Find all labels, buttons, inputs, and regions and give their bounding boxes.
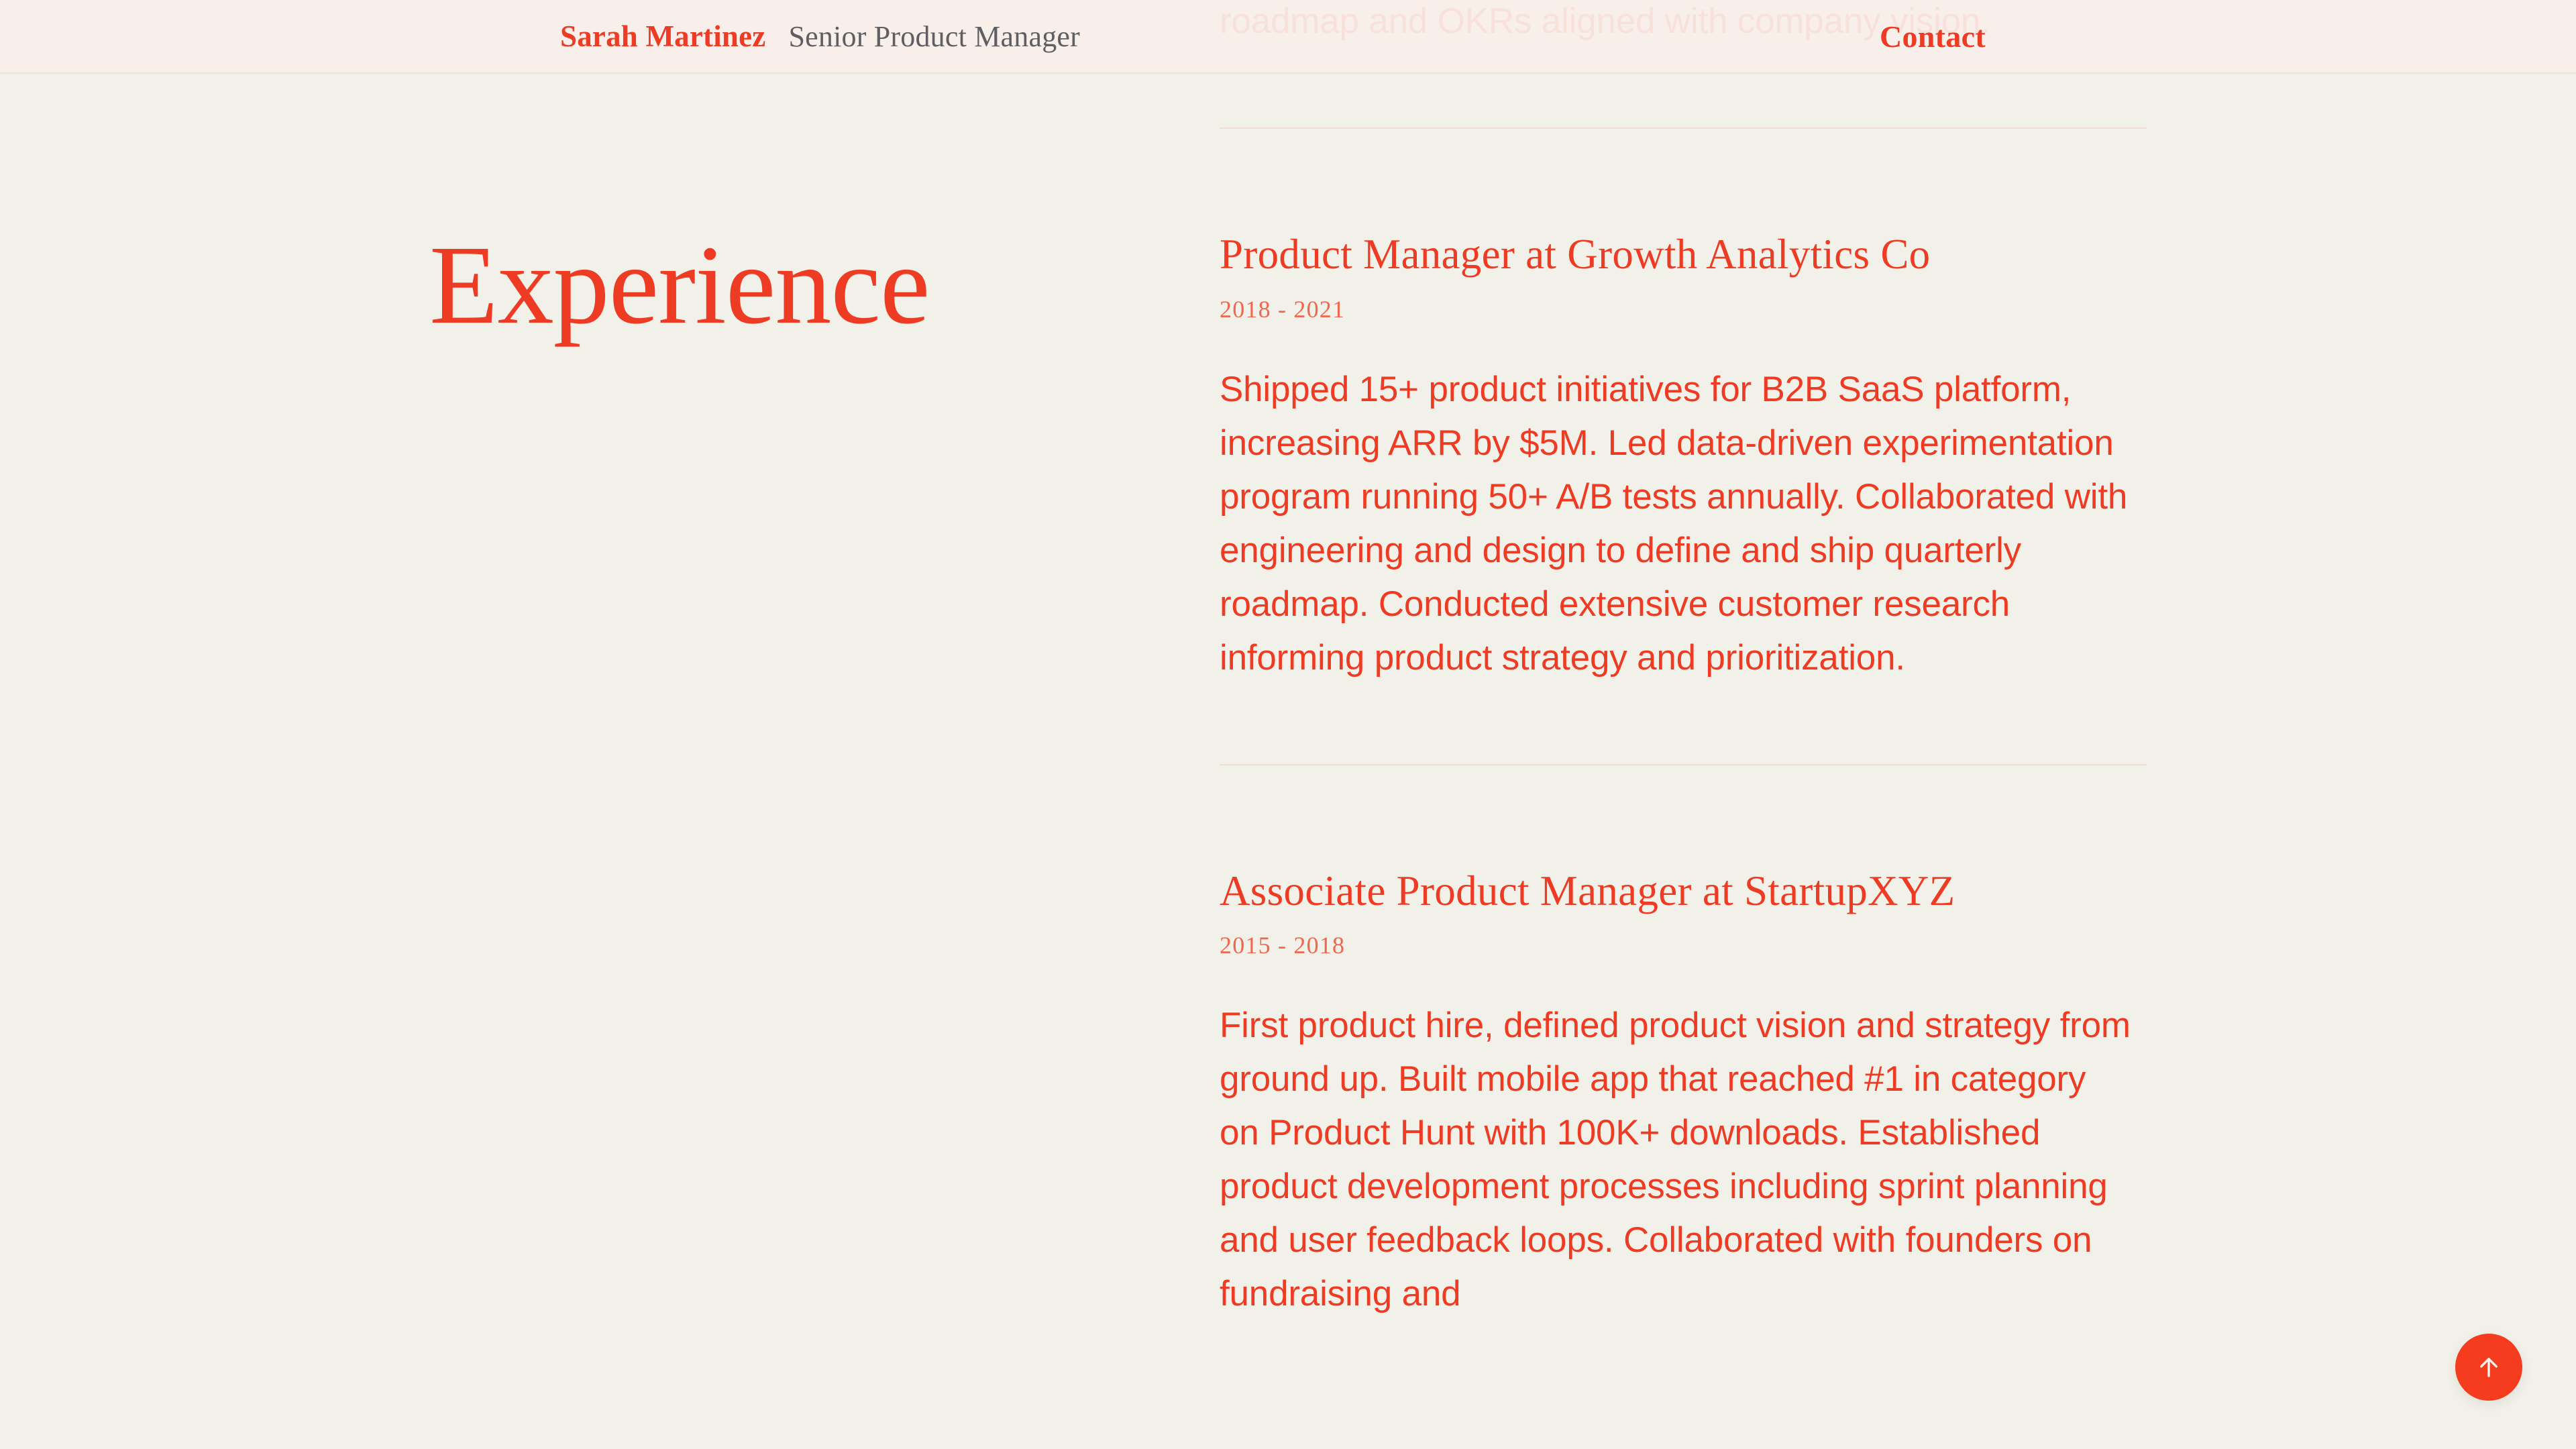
experience-entry: Product Manager at Growth Analytics Co 2… [1220, 129, 2147, 764]
brand-name[interactable]: Sarah Martinez [560, 19, 765, 54]
brand-role: Senior Product Manager [788, 19, 1080, 54]
page-title: Experience [429, 229, 930, 341]
main-content: Experience engineers, designers, and ana… [0, 0, 2576, 1449]
entry-body: Associate Product Manager at StartupXYZ … [1220, 765, 2147, 1401]
experience-entry: Associate Product Manager at StartupXYZ … [1220, 765, 2147, 1401]
scroll-to-top-button[interactable] [2455, 1334, 2522, 1401]
job-title: Product Manager at Growth Analytics Co [1220, 231, 2147, 278]
site-header: Sarah Martinez Senior Product Manager Co… [0, 0, 2576, 74]
arrow-up-icon [2475, 1353, 2503, 1381]
job-dates: 2018 - 2021 [1220, 297, 2147, 321]
job-dates: 2015 - 2018 [1220, 933, 2147, 957]
primary-nav: Contact [1880, 19, 1986, 54]
entry-body: Product Manager at Growth Analytics Co 2… [1220, 129, 2147, 764]
job-title: Associate Product Manager at StartupXYZ [1220, 867, 2147, 915]
job-description: Shipped 15+ product initiatives for B2B … [1220, 363, 2132, 685]
job-description: First product hire, defined product visi… [1220, 999, 2132, 1321]
nav-link-contact[interactable]: Contact [1880, 19, 1986, 54]
brand[interactable]: Sarah Martinez Senior Product Manager [560, 19, 1080, 54]
page-root: Experience engineers, designers, and ana… [0, 0, 2576, 1449]
experience-list: engineers, designers, and analysts. Defi… [1220, 0, 2147, 1400]
